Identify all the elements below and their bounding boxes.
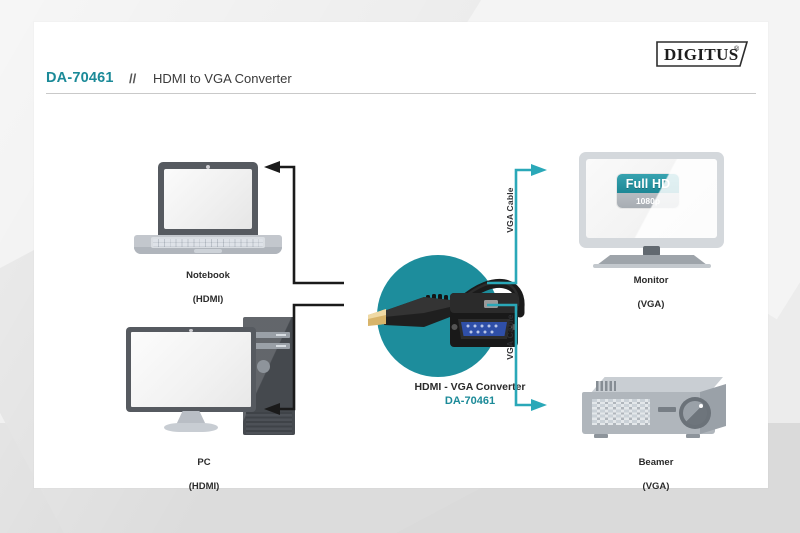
device-pc [126,316,296,440]
pc-caption: PC (HDMI) [134,445,274,505]
vent-grill-icon [246,412,292,434]
diagram-canvas: DA-70461 // HDMI to VGA Converter DIGITU… [0,0,800,533]
power-button-icon [257,360,270,373]
monitor-screen-gloss [586,159,717,238]
page-title: HDMI to VGA Converter [153,71,292,86]
monitor-stand-foot [164,423,218,432]
monitor-caption: Monitor (VGA) [581,263,721,323]
svg-text:®: ® [734,45,740,53]
beamer-lens-icon [683,401,707,425]
pc-port: (HDMI) [134,481,274,493]
converter-name: HDMI - VGA Converter [370,380,570,394]
notebook-name: Notebook [138,270,278,282]
notebook-screen [164,169,252,229]
converter-code: DA-70461 [370,394,570,409]
product-code: DA-70461 [46,70,114,86]
converter-caption: HDMI - VGA Converter DA-70461 [370,380,570,409]
beamer-caption: Beamer (VGA) [581,445,731,505]
svg-text:DIGITUS: DIGITUS [664,45,739,64]
header-separator: // [129,71,136,86]
trackpad-icon [194,249,222,253]
pc-name: PC [134,457,274,469]
keyboard-icon [153,239,263,247]
led-indicator-icon [276,345,286,347]
product-image-converter [344,267,529,367]
beamer-lens-highlight [699,404,703,408]
device-notebook [134,162,282,254]
device-monitor: Full HD 1080p [579,152,724,272]
monitor-port: (VGA) [581,299,721,311]
pc-monitor-screen [131,332,251,407]
beamer-slot-icon [658,407,676,412]
beamer-foot [686,434,700,438]
beamer-vent-icon [596,381,616,391]
notebook-port: (HDMI) [138,294,278,306]
notebook-caption: Notebook (HDMI) [138,258,278,318]
monitor-name: Monitor [581,275,721,287]
webcam-icon [206,165,210,169]
beamer-grill-icon [592,399,650,425]
cable-label-beamer: VGA Cable [505,307,515,367]
monitor-stand-nub [643,246,660,256]
digitus-logo: DIGITUS ® [654,39,750,69]
webcam-icon [189,329,193,332]
led-indicator-icon [276,334,286,336]
beamer-name: Beamer [581,457,731,469]
beamer-foot [594,434,608,438]
header-divider [46,93,756,94]
cable-label-monitor: VGA Cable [505,180,515,240]
beamer-port: (VGA) [581,481,731,493]
content-card: DA-70461 // HDMI to VGA Converter DIGITU… [34,22,768,488]
header: DA-70461 // HDMI to VGA Converter [46,70,756,100]
device-beamer [582,377,730,445]
